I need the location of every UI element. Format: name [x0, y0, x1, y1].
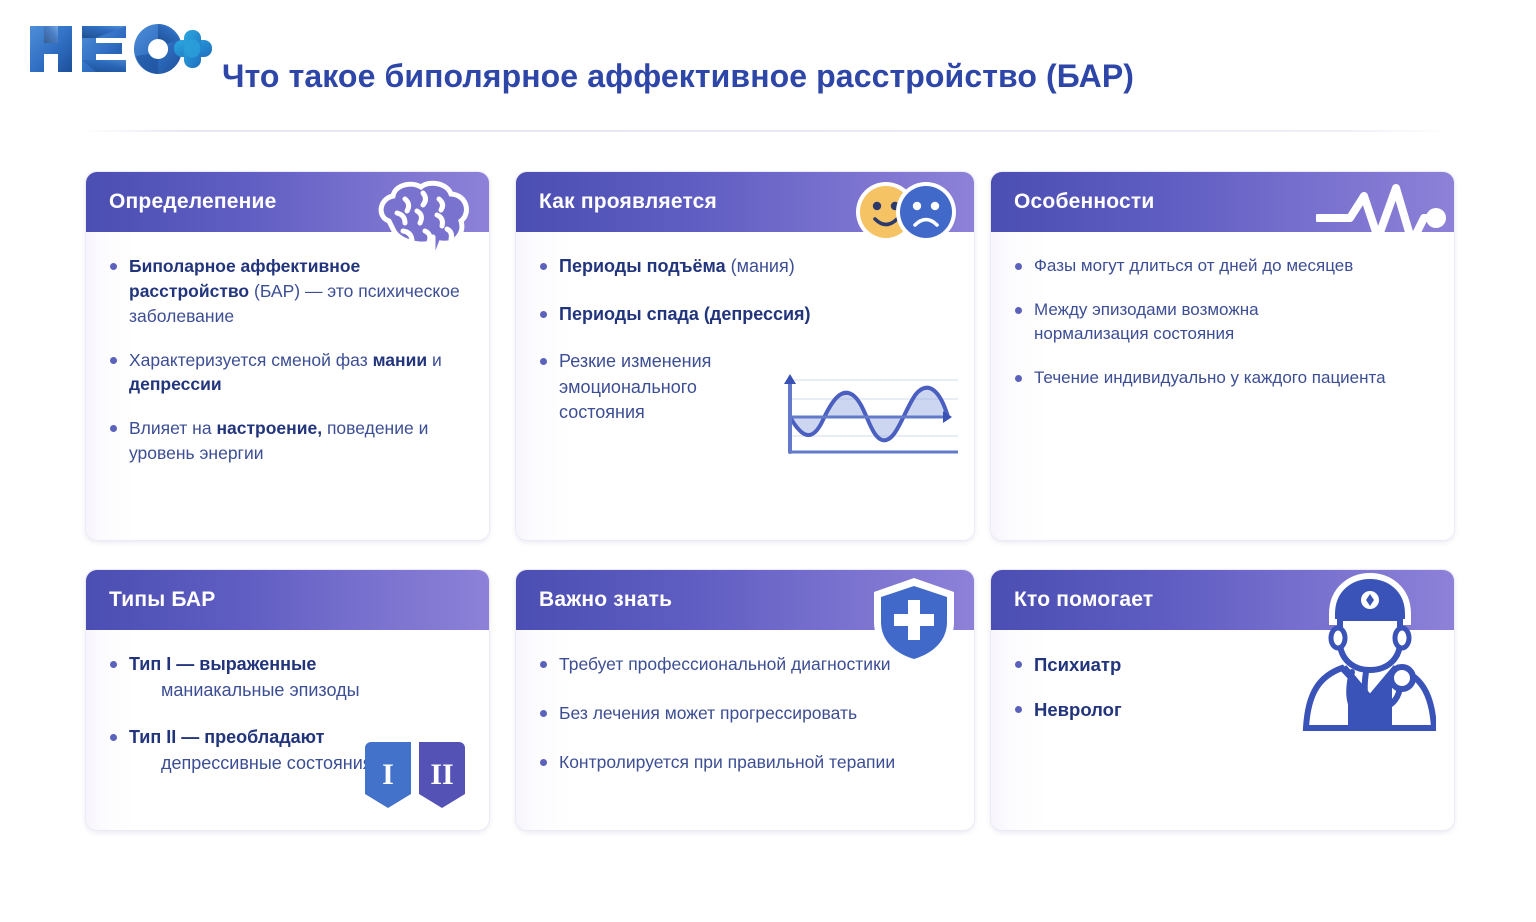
- bullet-text-bold: Тип II — преобладают: [129, 727, 324, 747]
- bullet-text-normal: Течение индивидуально у каждого пациента: [1034, 368, 1386, 387]
- bullet-list-definition: Биполарное аффективное расстройство (БАР…: [107, 254, 469, 466]
- bullet-text-normal: Между эпизодами возможна нормализация со…: [1034, 300, 1259, 343]
- bullet-subtext: маниакальные эпизоды: [129, 678, 469, 704]
- card-header-important: Важно знать: [516, 570, 974, 630]
- bullet-text-normal: Без лечения может прогрессировать: [559, 703, 857, 723]
- bullet-text-normal: Требует профессиональной диагностики: [559, 654, 891, 674]
- bullet-list-features: Фазы могут длиться от дней до месяцев Ме…: [1012, 254, 1434, 391]
- card-title-important: Важно знать: [516, 588, 672, 612]
- card-header-manifestation: Как проявляется: [516, 172, 974, 232]
- list-item: Периоды спада (депрессия): [537, 302, 954, 328]
- card-manifestation[interactable]: Как проявляется: [515, 171, 975, 541]
- bullet-text-normal: Фазы могут длиться от дней до месяцев: [1034, 256, 1353, 275]
- bullet-text-bold: Невролог: [1034, 699, 1122, 720]
- card-header-definition: Определепение: [86, 172, 489, 232]
- card-body-who-helps: Психиатр Невролог: [991, 630, 1454, 830]
- card-features[interactable]: Особенности Фазы могут длиться от дней д…: [990, 171, 1455, 541]
- bullet-text-lead: Характеризуется сменой фаз: [129, 350, 373, 370]
- card-title-types: Типы БАР: [86, 588, 215, 612]
- bullet-list-who-helps: Психиатр Невролог: [1012, 652, 1434, 724]
- type-badges: I II: [361, 742, 469, 810]
- list-item: Контролируется при правильной терапии: [537, 750, 954, 775]
- bullet-text-mid: и: [427, 350, 442, 370]
- card-title-who-helps: Кто помогает: [991, 588, 1153, 612]
- list-item: Характеризуется сменой фаз мании и депре…: [107, 348, 469, 398]
- card-header-types: Типы БАР: [86, 570, 489, 630]
- list-item: Тип I — выраженные маниакальные эпизоды: [107, 652, 469, 703]
- bullet-text-lead: Влияет на: [129, 418, 216, 438]
- bullet-text-bold: настроение,: [216, 418, 322, 438]
- card-definition[interactable]: Определепение: [85, 171, 490, 541]
- card-body-definition: Биполарное аффективное расстройство (БАР…: [86, 232, 489, 540]
- list-item: Между эпизодами возможна нормализация со…: [1012, 298, 1322, 346]
- card-header-who-helps: Кто помогает: [991, 570, 1454, 630]
- list-item: Без лечения может прогрессировать: [537, 701, 954, 726]
- bullet-text-normal: Резкие изменения эмоционального состояни…: [559, 351, 711, 422]
- bullet-text-bold: Периоды спада (депрессия): [559, 304, 811, 324]
- list-item: Резкие изменения эмоционального состояни…: [537, 349, 787, 426]
- card-title-features: Особенности: [991, 190, 1154, 214]
- page-title: Что такое биполярное аффективное расстро…: [222, 58, 1134, 95]
- svg-text:I: I: [382, 758, 394, 791]
- list-item: Течение индивидуально у каждого пациента: [1012, 366, 1434, 390]
- bullet-text-bold-2: депрессии: [129, 374, 222, 394]
- neo-plus-logo: [18, 16, 213, 78]
- bullet-text-bold: Тип I — выраженные: [129, 654, 316, 674]
- list-item: Фазы могут длиться от дней до месяцев: [1012, 254, 1434, 278]
- list-item: Биполарное аффективное расстройство (БАР…: [107, 254, 469, 329]
- card-types[interactable]: Типы БАР Тип I — выраженные маниакальные…: [85, 569, 490, 831]
- card-header-features: Особенности: [991, 172, 1454, 232]
- list-item: Влияет на настроение, поведение и уровен…: [107, 416, 469, 466]
- cards-grid: Определепение: [85, 171, 1455, 831]
- page-header: Что такое биполярное аффективное расстро…: [0, 0, 1536, 130]
- bullet-text-bold: Психиатр: [1034, 654, 1121, 675]
- list-item: Психиатр: [1012, 652, 1434, 678]
- card-body-types: Тип I — выраженные маниакальные эпизоды …: [86, 630, 489, 830]
- list-item: Невролог: [1012, 697, 1434, 723]
- card-body-important: Требует профессиональной диагностики Без…: [516, 630, 974, 830]
- bullet-text-bold: мании: [373, 350, 428, 370]
- card-who-helps[interactable]: Кто помогает: [990, 569, 1455, 831]
- list-item: Требует профессиональной диагностики: [537, 652, 954, 677]
- infographic-page: Что такое биполярное аффективное расстро…: [0, 0, 1536, 922]
- bullet-list-important: Требует профессиональной диагностики Без…: [537, 652, 954, 775]
- bullet-text-bold: Периоды подъёма: [559, 256, 726, 276]
- card-title-definition: Определепение: [86, 190, 277, 214]
- card-title-manifestation: Как проявляется: [516, 190, 717, 214]
- card-body-manifestation: Периоды подъёма (мания) Периоды спада (д…: [516, 232, 974, 540]
- svg-text:II: II: [430, 758, 453, 791]
- card-body-features: Фазы могут длиться от дней до месяцев Ме…: [991, 232, 1454, 540]
- card-important[interactable]: Важно знать Требует профессиональной диа…: [515, 569, 975, 831]
- mood-wave-chart: [772, 366, 962, 458]
- list-item: Периоды подъёма (мания): [537, 254, 954, 280]
- bullet-text-normal: (мания): [726, 256, 795, 276]
- bullet-text-normal: Контролируется при правильной терапии: [559, 752, 895, 772]
- header-divider: [80, 130, 1452, 132]
